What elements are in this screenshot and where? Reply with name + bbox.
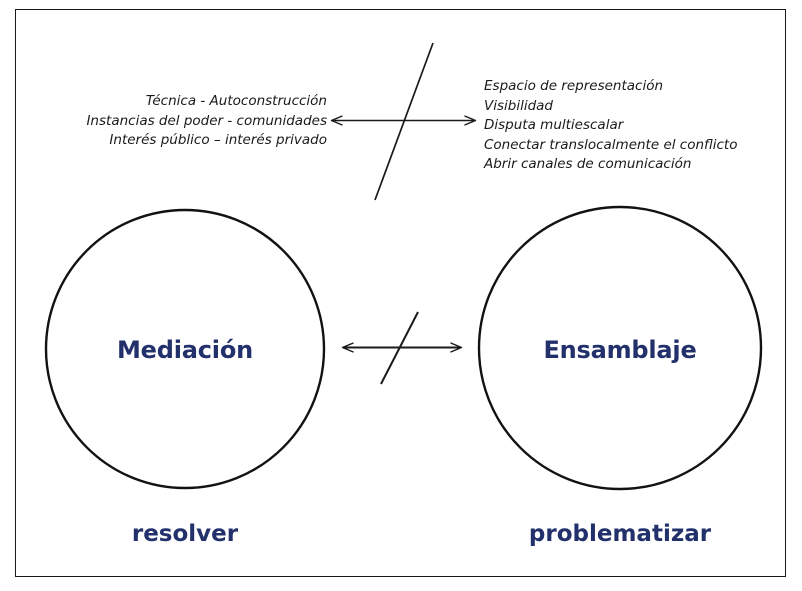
right-concept-line-1: Espacio de representación [484,77,737,97]
left-concept-line-1: Técnica - Autoconstrucción [86,92,327,112]
left-concept-line-2: Instancias del poder - comunidades [86,112,327,132]
left-concept-list: Técnica - Autoconstrucción Instancias de… [86,92,327,151]
right-circle-label: Ensamblaje [480,336,760,364]
left-circle-caption: resolver [45,521,325,547]
right-concept-line-2: Visibilidad [484,97,737,117]
diagram-canvas: Técnica - Autoconstrucción Instancias de… [0,0,802,591]
right-concept-line-4: Conectar translocalmente el conflicto [484,136,737,156]
right-concept-line-5: Abrir canales de comunicación [484,155,737,175]
right-circle-caption: problematizar [480,521,760,547]
right-concept-line-3: Disputa multiescalar [484,116,737,136]
left-concept-line-3: Interés público – interés privado [86,131,327,151]
right-concept-list: Espacio de representación Visibilidad Di… [484,77,737,175]
left-circle-label: Mediación [45,336,325,364]
